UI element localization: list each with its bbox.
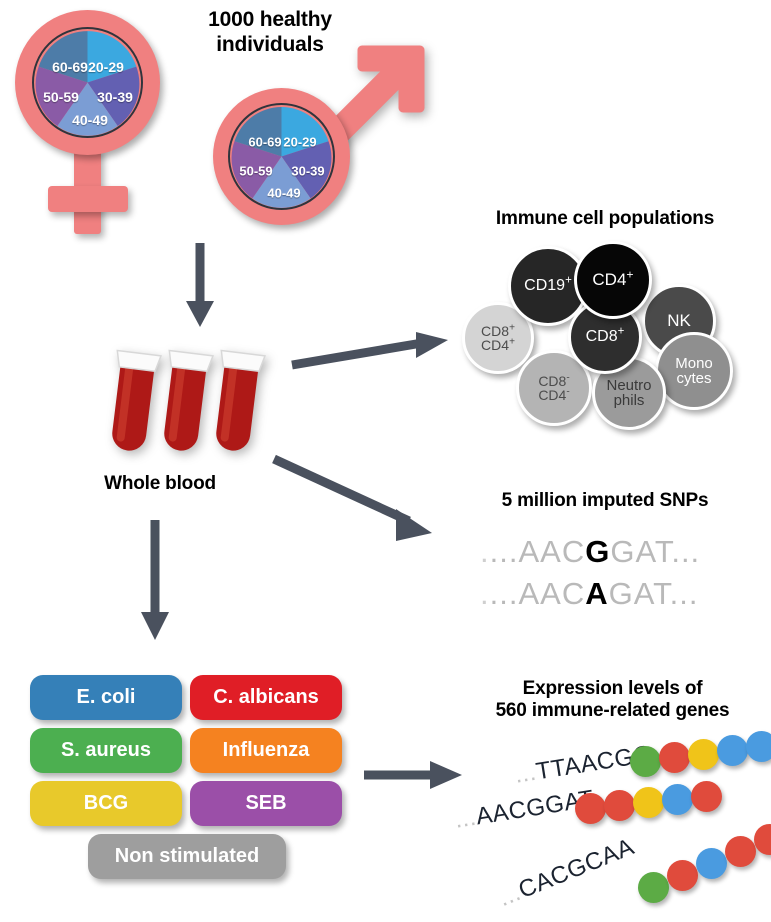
stimuli-panel: E. coli C. albicans S. aureus Influenza … — [30, 675, 350, 900]
strand-3-bead-4 — [725, 836, 756, 867]
expression-title-line1: Expression levels of — [460, 678, 765, 700]
male-age-pie-chart: 20-29 30-39 40-49 50-59 60-69 — [228, 103, 335, 210]
strand-1-bead-2 — [659, 742, 690, 773]
female-slice-label-30-39: 30-39 — [97, 89, 133, 105]
male-slice-label-60-69: 60-69 — [248, 135, 281, 150]
male-slice-label-20-29: 20-29 — [283, 135, 316, 150]
snps-title: 5 million imputed SNPs — [450, 490, 760, 512]
immune-cell-populations-title: Immune cell populations — [450, 208, 760, 230]
stimulus-e-coli[interactable]: E. coli — [30, 675, 182, 720]
strand-3-bead-2 — [667, 860, 698, 891]
strand-2-bead-1 — [575, 793, 606, 824]
strand-3-bead-5 — [754, 824, 771, 855]
snp-line2-variant: A — [585, 576, 608, 611]
male-slice-label-40-49: 40-49 — [267, 186, 300, 201]
snp-line2-prefix: ...AAC — [490, 576, 586, 611]
cell-monocytes: Monocytes — [655, 332, 733, 410]
male-gender-symbol: 20-29 30-39 40-49 50-59 60-69 — [205, 40, 420, 240]
female-symbol-crossbar — [48, 186, 128, 212]
strand-1-bead-5 — [746, 731, 771, 762]
strand-3-sequence: ...CACGCAA — [495, 833, 639, 913]
strand-2-bead-5 — [691, 781, 722, 812]
strand-2-bead-4 — [662, 784, 693, 815]
expression-strands: ...TTAACGG ...AACGGAT ...CACGCAA — [440, 740, 771, 915]
study-design-figure: 1000 healthy individuals 20-29 30-39 40-… — [0, 0, 771, 922]
strand-1-bead-1 — [630, 746, 661, 777]
cohort-title-line1: 1000 healthy — [170, 8, 370, 33]
female-gender-symbol: 20-29 30-39 40-49 50-59 60-69 — [8, 8, 188, 238]
stimulus-seb[interactable]: SEB — [190, 781, 342, 826]
female-slice-label-60-69: 60-69 — [52, 59, 88, 75]
female-slice-label-40-49: 40-49 — [72, 112, 108, 128]
snp-sequence-line-2: ....AACAGAT... — [480, 576, 698, 612]
male-slice-label-30-39: 30-39 — [291, 164, 324, 179]
male-slice-label-50-59: 50-59 — [239, 164, 272, 179]
snp-line1-suffix: GAT... — [610, 534, 700, 569]
strand-1-bead-3 — [688, 739, 719, 770]
stimulus-bcg[interactable]: BCG — [30, 781, 182, 826]
female-slice-label-50-59: 50-59 — [43, 89, 79, 105]
strand-2-bead-3 — [633, 787, 664, 818]
snp-sequence-line-1: ....AACGGAT... — [480, 534, 700, 570]
arrow-cohort-to-blood — [180, 243, 220, 333]
cell-cd4-pos: CD4+ — [574, 241, 652, 319]
stimulus-influenza[interactable]: Influenza — [190, 728, 342, 773]
expression-title: Expression levels of 560 immune-related … — [460, 678, 765, 723]
strand-2-bead-2 — [604, 790, 635, 821]
snp-sequences: ....AACGGAT... ....AACAGAT... — [470, 530, 750, 620]
stimulus-non-stimulated[interactable]: Non stimulated — [88, 834, 286, 879]
arrow-blood-to-immune-cells — [290, 330, 455, 380]
immune-cell-cluster: CD8+CD4+ NK CD19+ CD8-CD4- Monocytes Neu… — [450, 240, 760, 430]
strand-3-bead-3 — [696, 848, 727, 879]
arrow-blood-to-snps — [272, 455, 452, 550]
female-age-pie-chart: 20-29 30-39 40-49 50-59 60-69 — [32, 27, 143, 138]
arrow-blood-to-stimuli — [135, 520, 175, 645]
snp-line2-suffix: GAT... — [609, 576, 699, 611]
whole-blood-tubes — [95, 335, 285, 460]
stimulus-s-aureus[interactable]: S. aureus — [30, 728, 182, 773]
whole-blood-label: Whole blood — [85, 473, 235, 495]
snp-line1-prefix: ...AAC — [490, 534, 586, 569]
strand-1-bead-4 — [717, 735, 748, 766]
strand-3-bases: CACGCAA — [515, 833, 638, 904]
blood-tubes-svg — [95, 335, 285, 460]
snp-line1-variant: G — [585, 534, 610, 569]
strand-3-bead-1 — [638, 872, 669, 903]
stimulus-c-albicans[interactable]: C. albicans — [190, 675, 342, 720]
female-slice-label-20-29: 20-29 — [88, 59, 124, 75]
expression-title-line2: 560 immune-related genes — [460, 700, 765, 722]
